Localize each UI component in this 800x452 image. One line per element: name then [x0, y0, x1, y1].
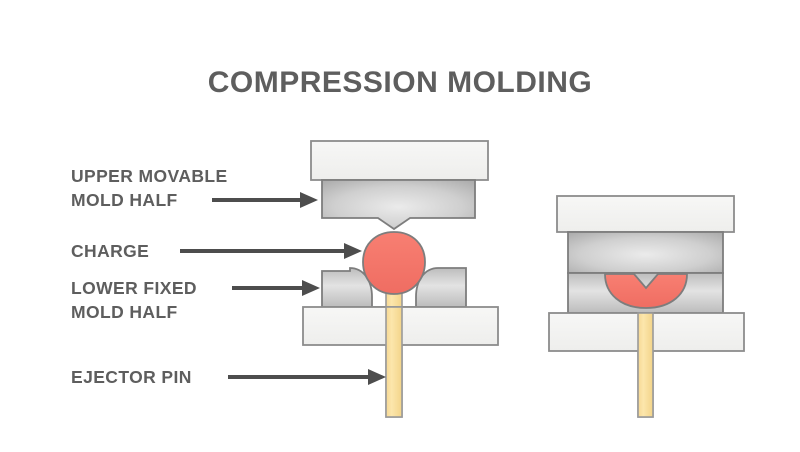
label-lower-fixed-mold-half-line2: MOLD HALF — [71, 302, 178, 322]
label-lower-fixed-mold-half: LOWER FIXED MOLD HALF — [71, 278, 320, 322]
ejector-pin-shaft — [638, 313, 653, 417]
arrow-lower-fixed-mold-half — [232, 280, 320, 296]
label-upper-movable-mold-half-line2: MOLD HALF — [71, 190, 178, 210]
upper-backing-plate — [557, 196, 734, 232]
arrow-charge — [180, 243, 362, 259]
ejector-pin-shaft — [386, 307, 402, 417]
label-ejector-pin: EJECTOR PIN — [71, 367, 386, 387]
arrow-ejector-pin — [228, 369, 386, 385]
diagram-canvas: COMPRESSION MOLDING — [0, 0, 800, 452]
label-charge-text: CHARGE — [71, 241, 149, 261]
charge-blob — [363, 232, 425, 294]
upper-backing-plate — [311, 141, 488, 180]
arrow-upper-movable-mold-half — [212, 192, 318, 208]
compression-molding-diagram: COMPRESSION MOLDING — [0, 0, 800, 452]
page-title: COMPRESSION MOLDING — [208, 66, 593, 99]
label-charge: CHARGE — [71, 241, 362, 261]
label-lower-fixed-mold-half-line1: LOWER FIXED — [71, 278, 197, 298]
label-upper-movable-mold-half-line1: UPPER MOVABLE — [71, 166, 228, 186]
upper-movable-mold-half — [568, 232, 723, 273]
label-upper-movable-mold-half: UPPER MOVABLE MOLD HALF — [71, 166, 318, 210]
upper-movable-mold-half — [322, 180, 475, 229]
closed-mold-stage — [549, 196, 744, 417]
label-ejector-pin-text: EJECTOR PIN — [71, 367, 192, 387]
